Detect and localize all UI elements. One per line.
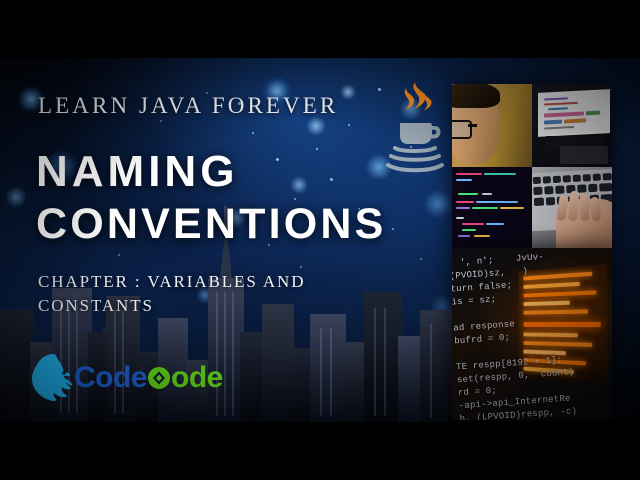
- developer-portrait-photo: [452, 84, 532, 167]
- particle-dot: [118, 254, 120, 256]
- brand-text-code: Code: [74, 363, 147, 393]
- particle-dot: [300, 266, 302, 268]
- brand-logo: Code ode: [30, 352, 223, 404]
- bokeh-particle: [340, 84, 356, 100]
- bokeh-particle: [5, 186, 27, 208]
- thumbnail-canvas: LEARN JAVA FOREVER NAMING CONVENTIONS CH…: [0, 0, 640, 480]
- letterbox-bar-bottom: [0, 422, 640, 480]
- bokeh-particle: [100, 326, 116, 342]
- title-line-1: NAMING: [36, 147, 238, 196]
- desktop-monitor-code-photo: [532, 84, 612, 167]
- eyebrow-text: LEARN JAVA FOREVER: [38, 93, 338, 119]
- java-coffee-cup-icon: [384, 78, 446, 174]
- chapter-line-2: CONSTANTS: [38, 294, 305, 318]
- code-editor-screen-photo: [452, 167, 532, 250]
- page-title: NAMING CONVENTIONS: [36, 146, 387, 250]
- lion-head-icon: [30, 352, 78, 404]
- particle-dot: [160, 120, 162, 122]
- particle-dot: [378, 88, 381, 91]
- chapter-subtitle: CHAPTER : VARIABLES AND CONSTANTS: [38, 270, 305, 318]
- brand-text-ode: ode: [171, 363, 223, 393]
- particle-dot: [392, 228, 394, 230]
- orange-code-screen-photo: ', n'; JvUv- (PVOID)sz, ) turn false; is…: [452, 248, 612, 420]
- brand-wordmark: Code ode: [74, 363, 223, 393]
- bokeh-particle: [430, 294, 454, 318]
- brand-m-badge: [148, 367, 170, 389]
- hands-on-laptop-keyboard-photo: [532, 167, 612, 250]
- particle-dot: [252, 132, 254, 134]
- title-line-2: CONVENTIONS: [36, 198, 387, 250]
- chapter-line-1: CHAPTER : VARIABLES AND: [38, 270, 305, 294]
- particle-dot: [348, 124, 350, 126]
- bokeh-particle: [424, 190, 452, 218]
- photo-collage: [452, 84, 612, 249]
- bokeh-particle: [306, 116, 326, 136]
- background-scene: LEARN JAVA FOREVER NAMING CONVENTIONS CH…: [0, 58, 640, 422]
- letterbox-bar-top: [0, 0, 640, 58]
- particle-dot: [420, 258, 422, 260]
